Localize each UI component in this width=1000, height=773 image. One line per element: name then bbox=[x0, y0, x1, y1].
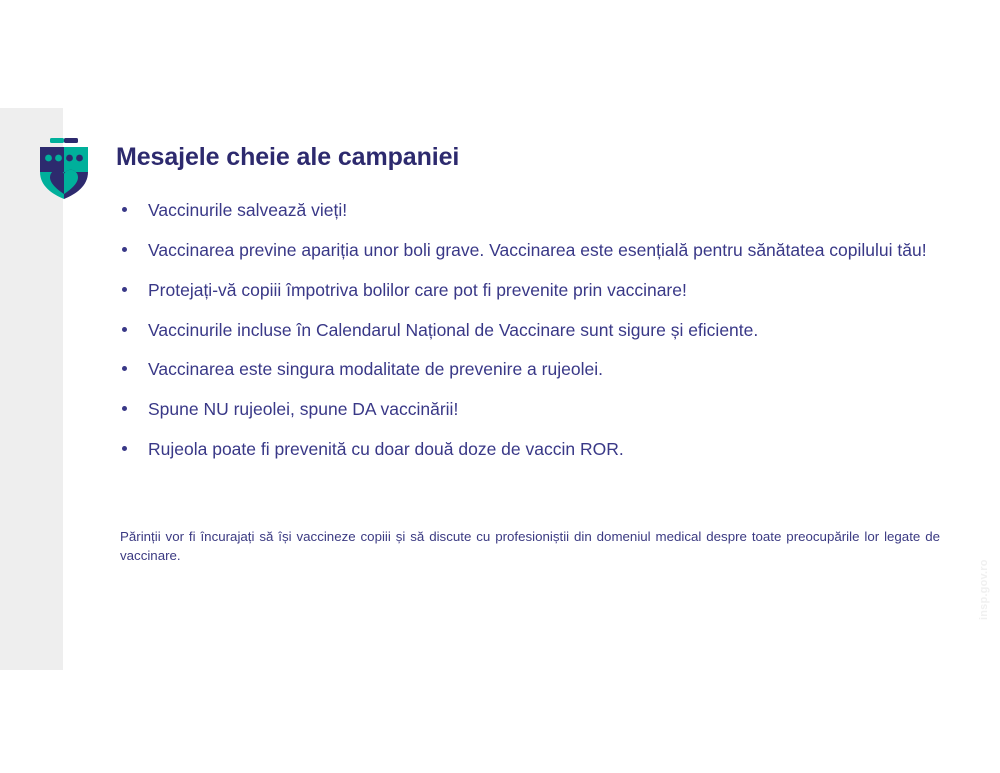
list-item-text: Vaccinarea este singura modalitate de pr… bbox=[148, 359, 603, 379]
list-item: Spune NU rujeolei, spune DA vaccinării! bbox=[118, 397, 942, 422]
site-watermark: insp.gov.ro bbox=[978, 530, 998, 620]
list-item-text: Vaccinarea previne apariția unor boli gr… bbox=[148, 238, 942, 263]
bullet-dot-icon bbox=[122, 247, 127, 252]
list-item: Protejați-vă copiii împotriva bolilor ca… bbox=[118, 278, 942, 303]
bullet-dot-icon bbox=[122, 207, 127, 212]
bullet-dot-icon bbox=[122, 366, 127, 371]
list-item-text: Vaccinurile incluse în Calendarul Națion… bbox=[148, 320, 758, 340]
list-item: Vaccinarea previne apariția unor boli gr… bbox=[118, 238, 942, 263]
bullet-dot-icon bbox=[122, 406, 127, 411]
list-item: Vaccinurile salvează vieți! bbox=[118, 198, 942, 223]
list-item: Rujeola poate fi prevenită cu doar două … bbox=[118, 437, 942, 462]
list-item: Vaccinarea este singura modalitate de pr… bbox=[118, 357, 942, 382]
bullet-dot-icon bbox=[122, 446, 127, 451]
key-messages-list: Vaccinurile salvează vieți! Vaccinarea p… bbox=[118, 198, 942, 477]
footnote-text: Părinții vor fi încurajați să își vaccin… bbox=[120, 528, 940, 566]
list-item: Vaccinurile incluse în Calendarul Națion… bbox=[118, 318, 942, 343]
list-item-text: Protejați-vă copiii împotriva bolilor ca… bbox=[148, 280, 687, 300]
list-item-text: Spune NU rujeolei, spune DA vaccinării! bbox=[148, 399, 458, 419]
bullet-dot-icon bbox=[122, 287, 127, 292]
list-item-text: Vaccinurile salvează vieți! bbox=[148, 200, 347, 220]
bullet-dot-icon bbox=[122, 327, 127, 332]
insp-shield-heart-logo bbox=[38, 138, 90, 200]
list-item-text: Rujeola poate fi prevenită cu doar două … bbox=[148, 439, 624, 459]
page-title: Mesajele cheie ale campaniei bbox=[116, 143, 459, 172]
